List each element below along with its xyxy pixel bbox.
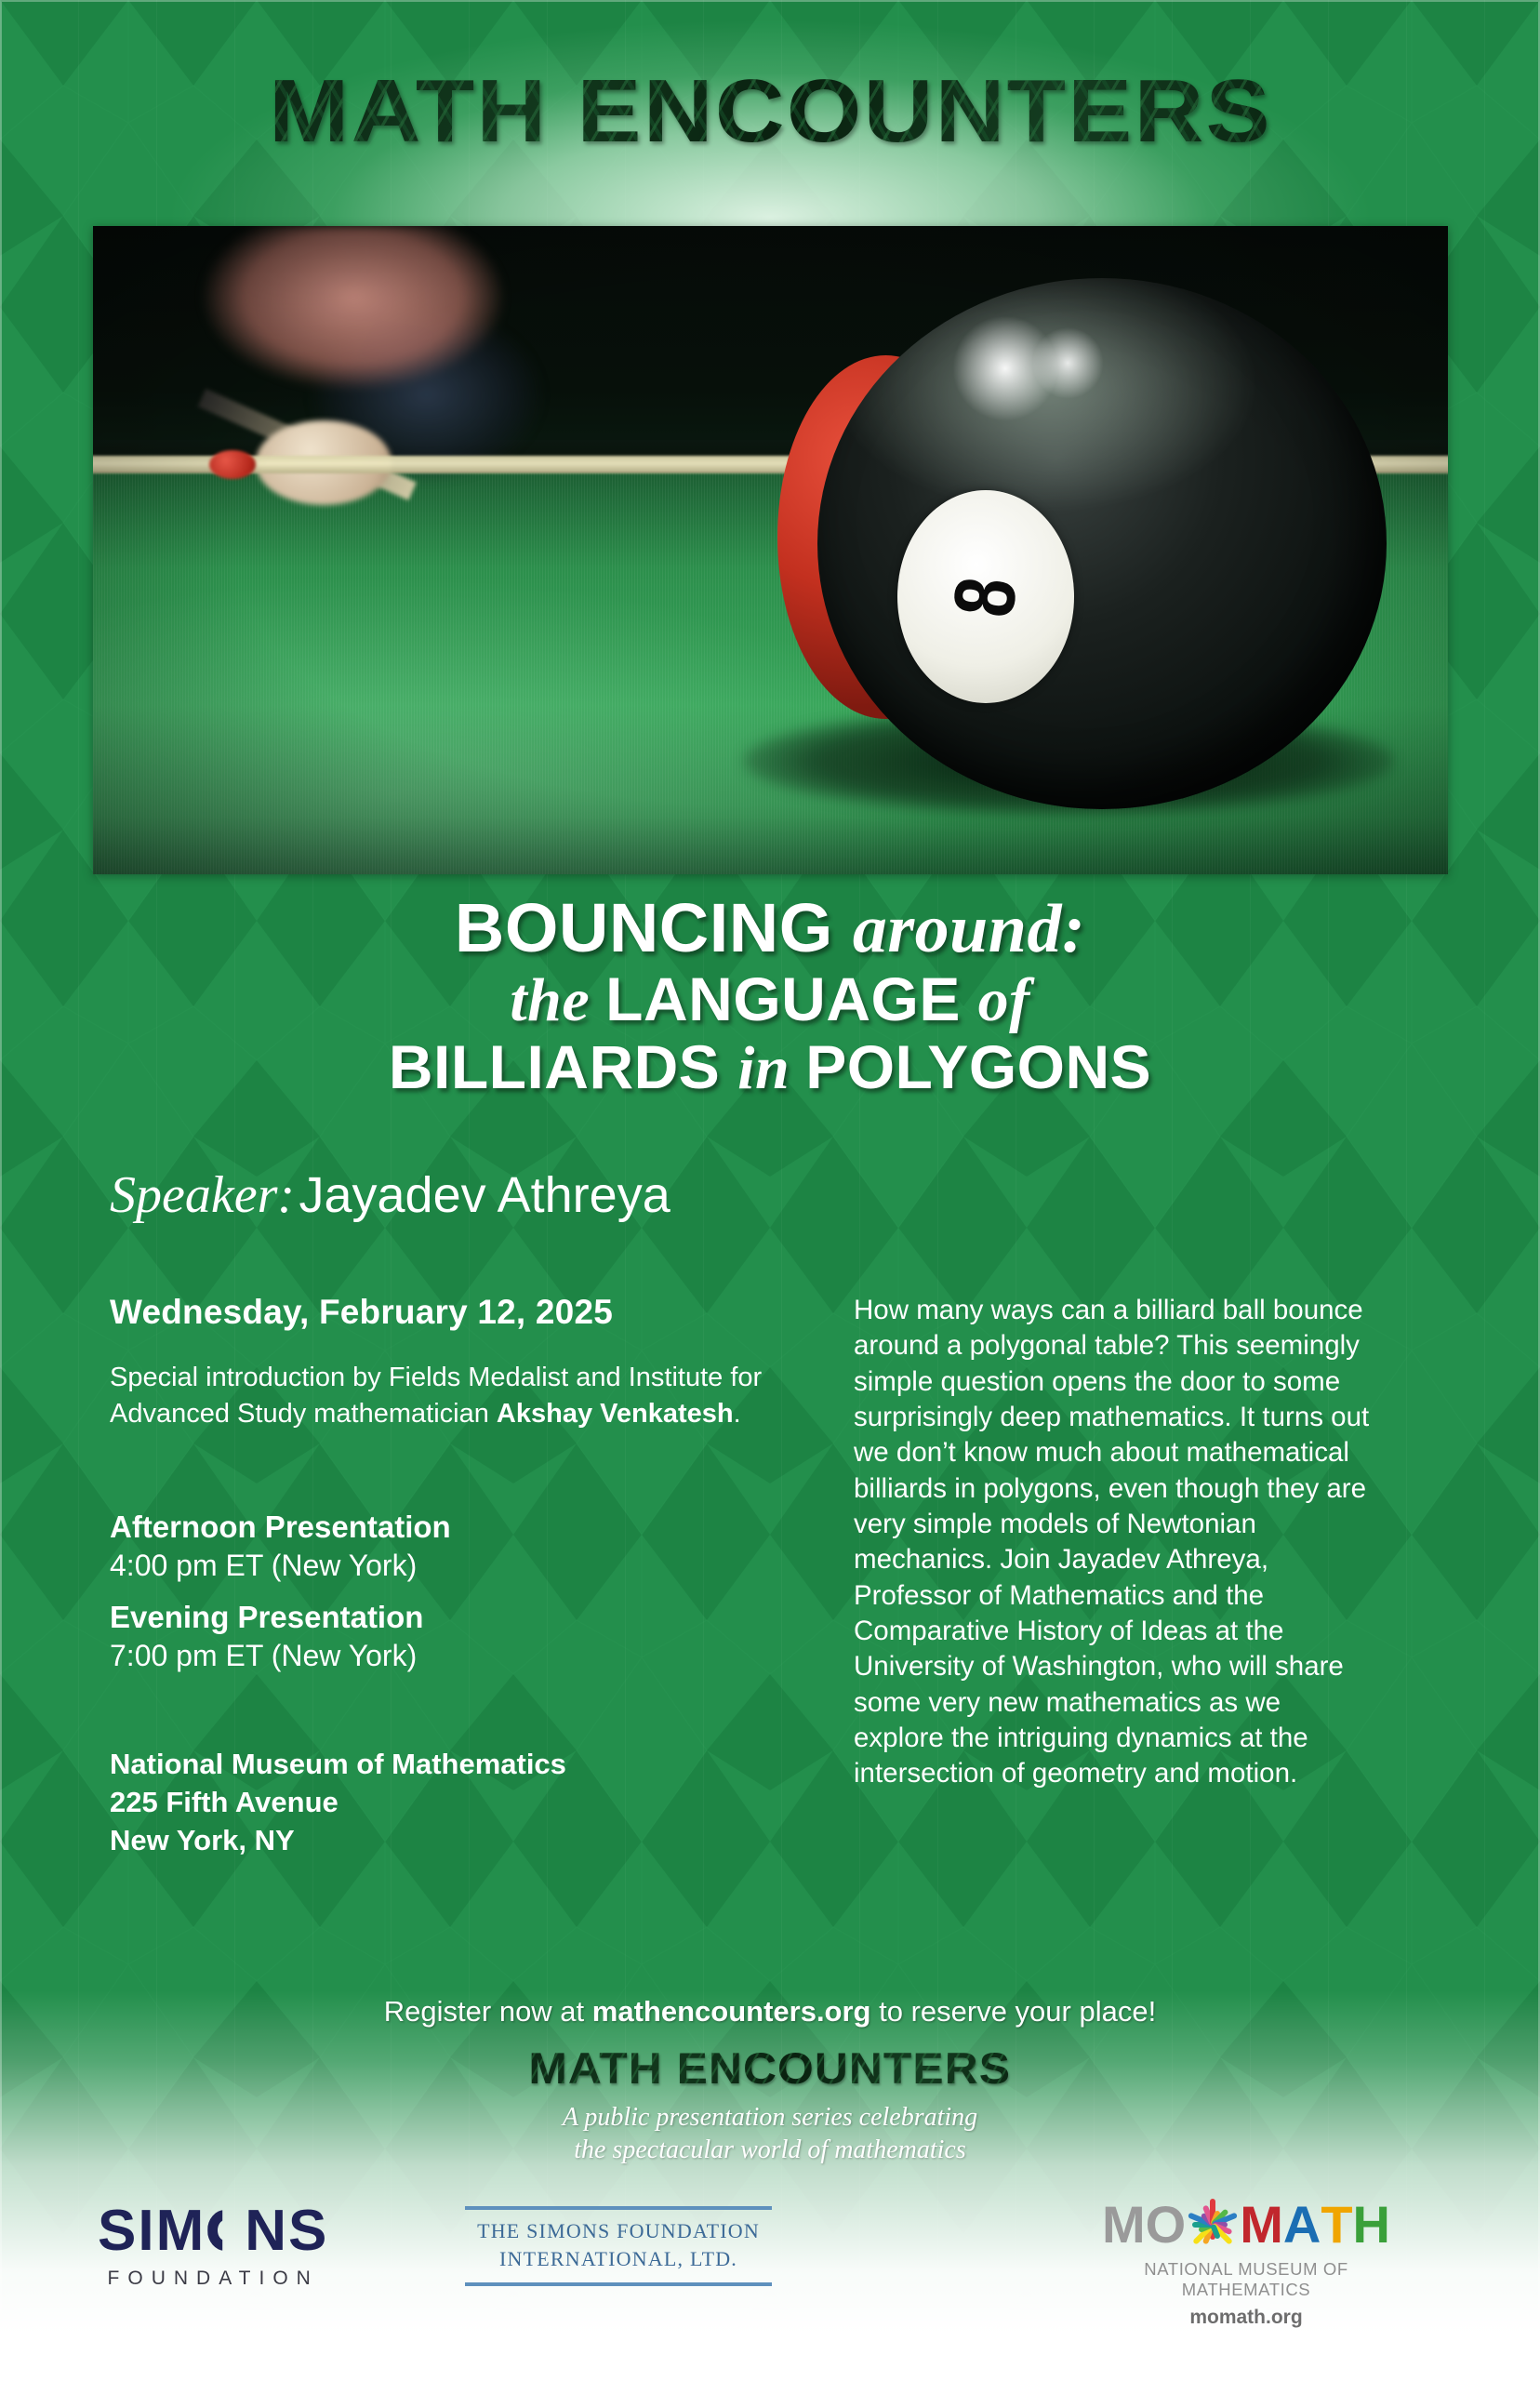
sfi-line-1: THE SIMONS FOUNDATION — [465, 2217, 772, 2245]
registration-callout: Register now at mathencounters.org to re… — [0, 1995, 1540, 2029]
simons-word-pre: SIM — [98, 2199, 206, 2263]
headline-line1-bold: BOUNCING — [455, 889, 853, 966]
evening-session-label: Evening Presentation — [110, 1600, 816, 1635]
simons-foundation-subtitle: FOUNDATION — [98, 2268, 328, 2290]
poster: MATH ENCOUNTERS 8 BOUNCING around: the L… — [0, 0, 1540, 2381]
headline-line2-bold-language: LANGUAGE — [605, 964, 978, 1033]
evening-session-time: 7:00 pm ET (New York) — [110, 1639, 816, 1673]
poster-header: MATH ENCOUNTERS — [0, 67, 1540, 156]
series-tagline-line1: A public presentation series celebrating — [0, 2101, 1540, 2134]
series-logo-block: MATH ENCOUNTERS A public presentation se… — [0, 2042, 1540, 2167]
momath-wordmark: MO M A T H — [1093, 2199, 1400, 2251]
register-suffix: to reserve your place! — [871, 1995, 1157, 2028]
lecture-description: How many ways can a billiard ball bounce… — [854, 1293, 1374, 1792]
momath-a: A — [1283, 2199, 1321, 2251]
intro-guest-name: Akshay Venkatesh — [497, 1399, 734, 1429]
simons-foundation-international-logo: THE SIMONS FOUNDATION INTERNATIONAL, LTD… — [465, 2206, 772, 2286]
headline-line3-italic-in: in — [737, 1034, 805, 1102]
special-introduction: Special introduction by Fields Medalist … — [110, 1360, 816, 1431]
headline-line3-bold-polygons: POLYGONS — [805, 1032, 1151, 1101]
sfi-rule-top — [465, 2206, 772, 2210]
momath-h: H — [1353, 2199, 1390, 2251]
description-column: How many ways can a billiard ball bounce… — [854, 1293, 1374, 1792]
page-title: MATH ENCOUNTERS — [269, 67, 1272, 156]
headline-line-2: the LANGUAGE of — [0, 968, 1540, 1032]
headline-line1-italic: around: — [853, 891, 1085, 967]
headline-line2-italic-of: of — [978, 966, 1030, 1034]
momath-starburst-icon — [1188, 2200, 1238, 2250]
momath-m: M — [1240, 2199, 1283, 2251]
series-tagline-line2: the spectacular world of mathematics — [0, 2134, 1540, 2166]
simons-word-post: NS — [245, 2199, 328, 2263]
venue-street: 225 Fifth Avenue — [110, 1784, 816, 1822]
headline-line3-bold-billiards: BILLIARDS — [389, 1032, 737, 1101]
simons-foundation-logo: SIMNS FOUNDATION — [98, 2202, 328, 2290]
session-times: Afternoon Presentation 4:00 pm ET (New Y… — [110, 1510, 816, 1673]
momath-subtitle: NATIONAL MUSEUM OF MATHEMATICS — [1093, 2259, 1400, 2300]
sfi-line-2: INTERNATIONAL, LTD. — [465, 2245, 772, 2273]
register-url[interactable]: mathencounters.org — [592, 1995, 871, 2028]
details-columns: Wednesday, February 12, 2025 Special int… — [110, 1293, 1440, 1860]
venue-address: National Museum of Mathematics 225 Fifth… — [110, 1746, 816, 1860]
venue-city: New York, NY — [110, 1822, 816, 1860]
series-tagline: A public presentation series celebrating… — [0, 2101, 1540, 2167]
event-details-column: Wednesday, February 12, 2025 Special int… — [110, 1293, 854, 1860]
series-logo-title: MATH ENCOUNTERS — [529, 2042, 1012, 2094]
intro-text-part2: . — [734, 1399, 741, 1429]
speaker-label: Speaker: — [110, 1166, 295, 1224]
sponsor-footer: SIMNS FOUNDATION THE SIMONS FOUNDATION I… — [0, 2186, 1540, 2353]
speaker-line: Speaker: Jayadev Athreya — [110, 1165, 670, 1225]
photo-vignette — [93, 226, 1448, 874]
headline-line2-italic-the: the — [510, 966, 605, 1034]
register-prefix: Register now at — [384, 1995, 592, 2028]
lecture-headline: BOUNCING around: the LANGUAGE of BILLIAR… — [0, 893, 1540, 1100]
headline-line-3: BILLIARDS in POLYGONS — [0, 1036, 1540, 1100]
speaker-name: Jayadev Athreya — [299, 1167, 670, 1223]
headline-line-1: BOUNCING around: — [0, 893, 1540, 964]
simons-foundation-wordmark: SIMNS — [98, 2202, 328, 2260]
event-date: Wednesday, February 12, 2025 — [110, 1293, 816, 1332]
venue-name: National Museum of Mathematics — [110, 1746, 816, 1784]
momath-logo: MO M A T H NATIONAL MUSEUM OF MATHEMATIC… — [1093, 2199, 1400, 2329]
momath-mo: MO — [1102, 2199, 1186, 2251]
momath-url[interactable]: momath.org — [1093, 2307, 1400, 2329]
momath-t: T — [1321, 2199, 1352, 2251]
sfi-rule-bottom — [465, 2282, 772, 2286]
afternoon-session-time: 4:00 pm ET (New York) — [110, 1549, 816, 1583]
afternoon-session-label: Afternoon Presentation — [110, 1510, 816, 1545]
hero-photo-billiards: 8 — [93, 226, 1448, 874]
